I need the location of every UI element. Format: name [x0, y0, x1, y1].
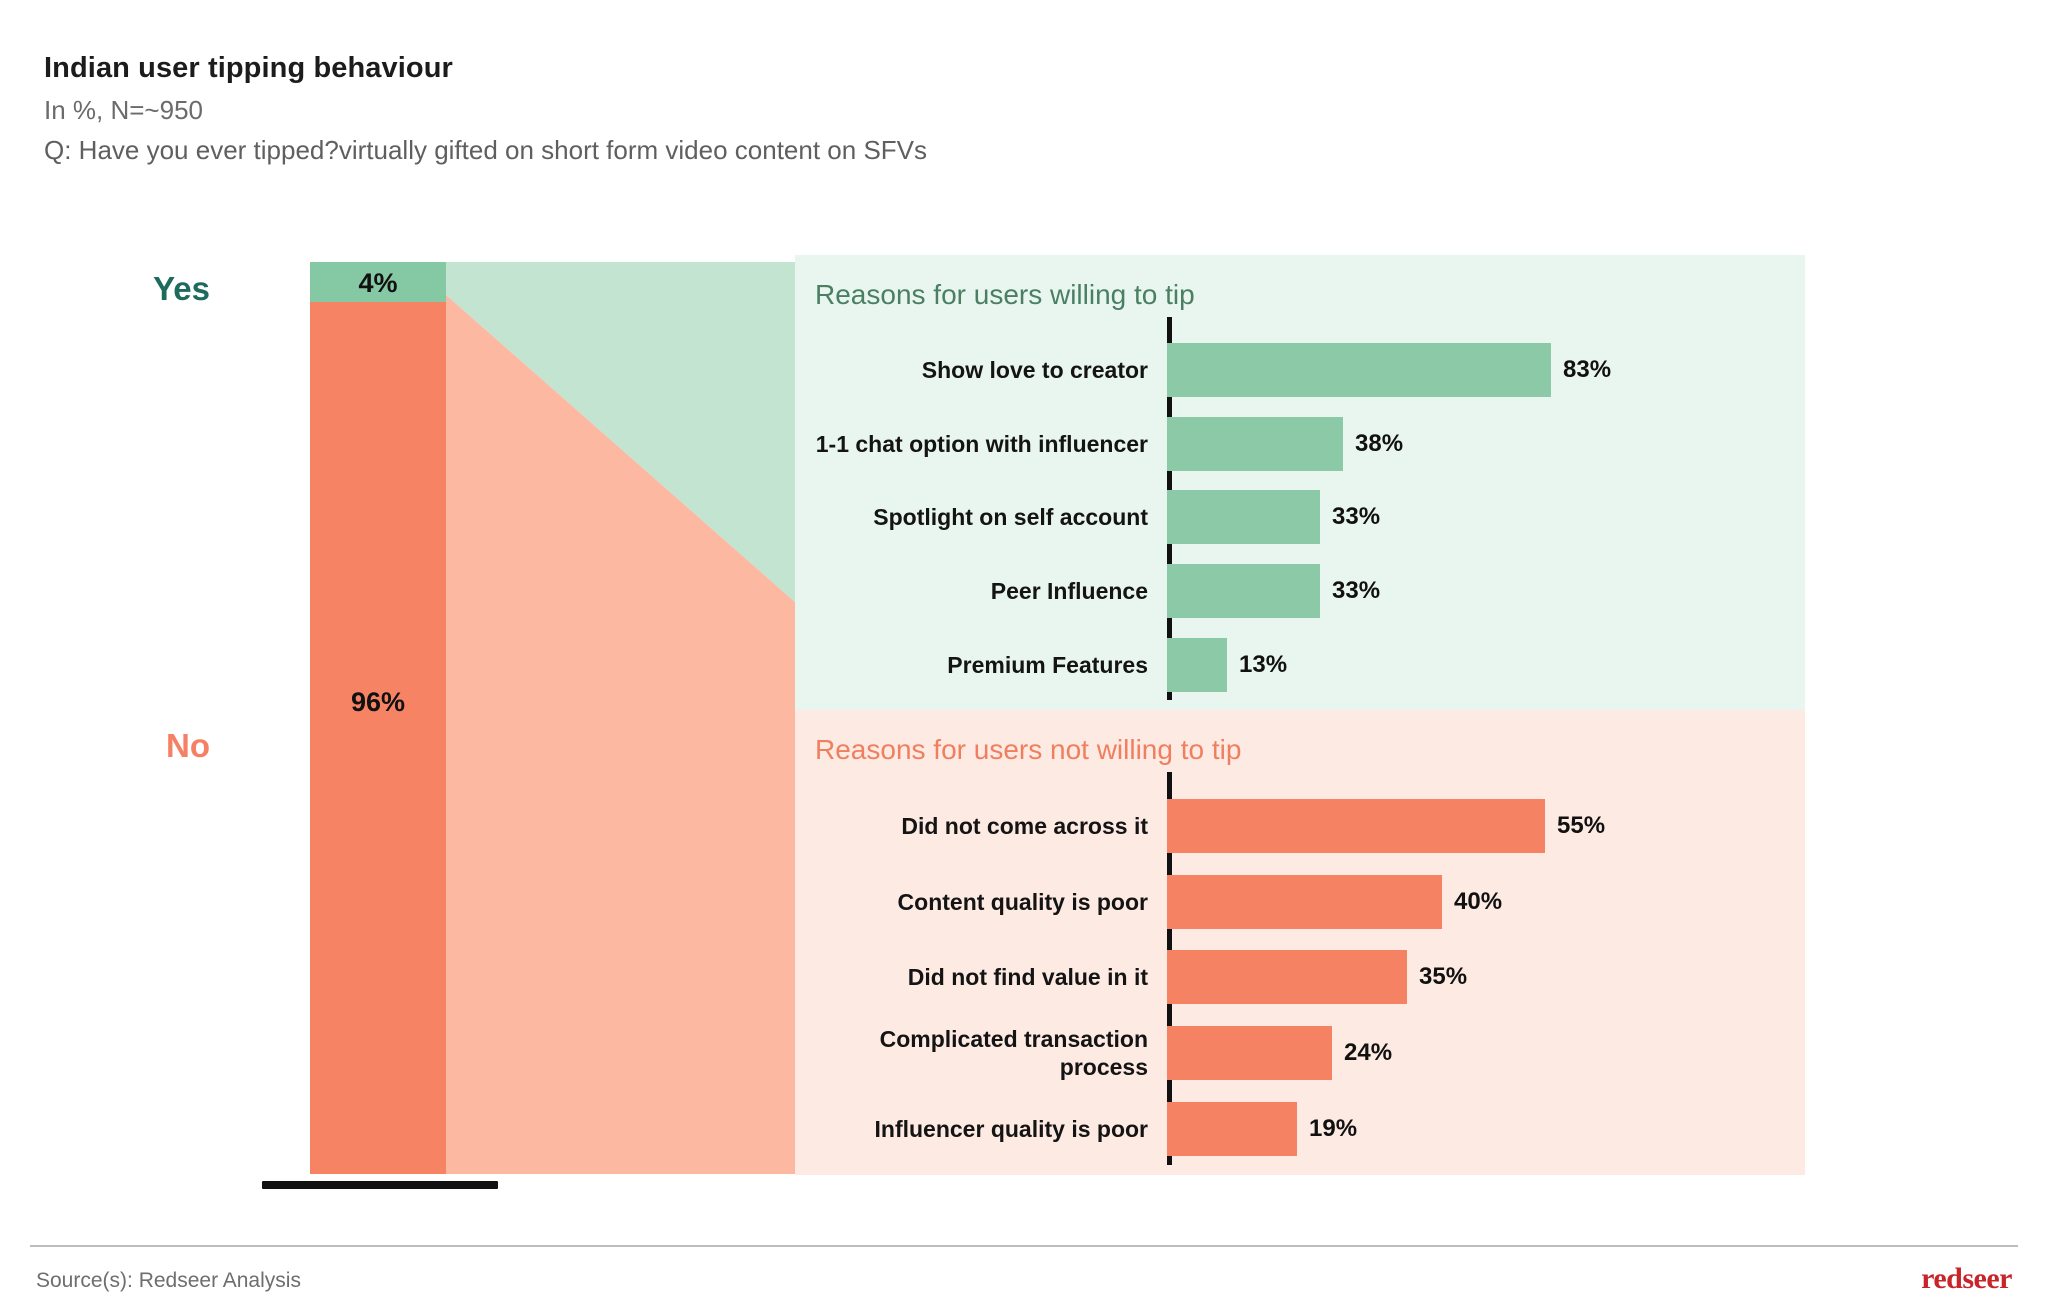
- panel-title-willing: Reasons for users willing to tip: [815, 279, 1195, 311]
- bar-value: 83%: [1563, 356, 1611, 384]
- bar-value: 35%: [1419, 963, 1467, 991]
- source-note: Source(s): Redseer Analysis: [36, 1269, 301, 1293]
- bar-fill: [1167, 417, 1343, 471]
- bar-label: Peer Influence: [795, 577, 1167, 605]
- bar-fill: [1167, 875, 1442, 929]
- bar-track: 55%: [1167, 788, 1805, 864]
- panel-willing-to-tip: Reasons for users willing to tip Show lo…: [795, 255, 1805, 710]
- table-row: Did not come across it 55%: [795, 788, 1805, 864]
- bar-track: 24%: [1167, 1015, 1805, 1091]
- bar-track: 33%: [1167, 481, 1805, 555]
- bar-fill: [1167, 564, 1320, 618]
- page-title: Indian user tipping behaviour: [44, 52, 1744, 85]
- bar-value: 24%: [1344, 1039, 1392, 1067]
- bar-track: 40%: [1167, 864, 1805, 940]
- table-row: Premium Features 13%: [795, 628, 1805, 702]
- axis-baseline: [262, 1181, 498, 1189]
- bar-value: 40%: [1454, 888, 1502, 916]
- stacked-segment-no: [310, 302, 446, 1174]
- survey-question: Q: Have you ever tipped?virtually gifted…: [44, 135, 1744, 166]
- bar-track: 83%: [1167, 333, 1805, 407]
- bar-value: 19%: [1309, 1115, 1357, 1143]
- bar-fill: [1167, 638, 1227, 692]
- table-row: Complicated transaction process 24%: [795, 1015, 1805, 1091]
- panel-title-not-willing: Reasons for users not willing to tip: [815, 734, 1241, 766]
- bar-fill: [1167, 799, 1545, 853]
- bar-fill: [1167, 1026, 1332, 1080]
- bar-value: 38%: [1355, 430, 1403, 458]
- table-row: Show love to creator 83%: [795, 333, 1805, 407]
- bar-label: Spotlight on self account: [795, 503, 1167, 531]
- bar-track: 19%: [1167, 1091, 1805, 1167]
- table-row: 1-1 chat option with influencer 38%: [795, 407, 1805, 481]
- chart-subtitle: In %, N=~950: [44, 95, 1744, 126]
- stacked-value-yes: 4%: [310, 268, 446, 299]
- bar-track: 38%: [1167, 407, 1805, 481]
- table-row: Content quality is poor 40%: [795, 864, 1805, 940]
- bar-fill: [1167, 1102, 1297, 1156]
- bar-fill: [1167, 490, 1320, 544]
- bar-fill: [1167, 343, 1551, 397]
- bar-track: 35%: [1167, 940, 1805, 1016]
- bar-track: 33%: [1167, 554, 1805, 628]
- table-row: Peer Influence 33%: [795, 554, 1805, 628]
- connector-wedges: [446, 262, 796, 1174]
- table-row: Influencer quality is poor 19%: [795, 1091, 1805, 1167]
- bar-rows-willing: Show love to creator 83% 1-1 chat option…: [795, 333, 1805, 702]
- bar-label: Complicated transaction process: [795, 1025, 1167, 1081]
- bar-fill: [1167, 950, 1407, 1004]
- bar-label: Show love to creator: [795, 356, 1167, 384]
- bar-label: Content quality is poor: [795, 888, 1167, 916]
- bar-label: Premium Features: [795, 651, 1167, 679]
- footer-divider: [30, 1245, 2018, 1247]
- category-label-yes: Yes: [30, 270, 210, 308]
- stacked-value-no: 96%: [310, 687, 446, 718]
- bar-label: 1-1 chat option with influencer: [795, 430, 1167, 458]
- bar-value: 55%: [1557, 812, 1605, 840]
- table-row: Spotlight on self account 33%: [795, 481, 1805, 555]
- bar-label: Influencer quality is poor: [795, 1115, 1167, 1143]
- bar-label: Did not come across it: [795, 812, 1167, 840]
- bar-value: 13%: [1239, 651, 1287, 679]
- stacked-bar: 4% 96%: [310, 262, 446, 1174]
- category-label-no: No: [30, 727, 210, 765]
- chart-header: Indian user tipping behaviour In %, N=~9…: [44, 52, 1744, 166]
- table-row: Did not find value in it 35%: [795, 940, 1805, 1016]
- bar-label: Did not find value in it: [795, 963, 1167, 991]
- bar-rows-not-willing: Did not come across it 55% Content quali…: [795, 788, 1805, 1167]
- bar-value: 33%: [1332, 577, 1380, 605]
- bar-value: 33%: [1332, 503, 1380, 531]
- panel-not-willing-to-tip: Reasons for users not willing to tip Did…: [795, 710, 1805, 1175]
- bar-track: 13%: [1167, 628, 1805, 702]
- redseer-logo: redseer: [1921, 1262, 2012, 1296]
- chart-area: Yes No 4% 96% Reasons for users willing …: [0, 255, 2048, 1210]
